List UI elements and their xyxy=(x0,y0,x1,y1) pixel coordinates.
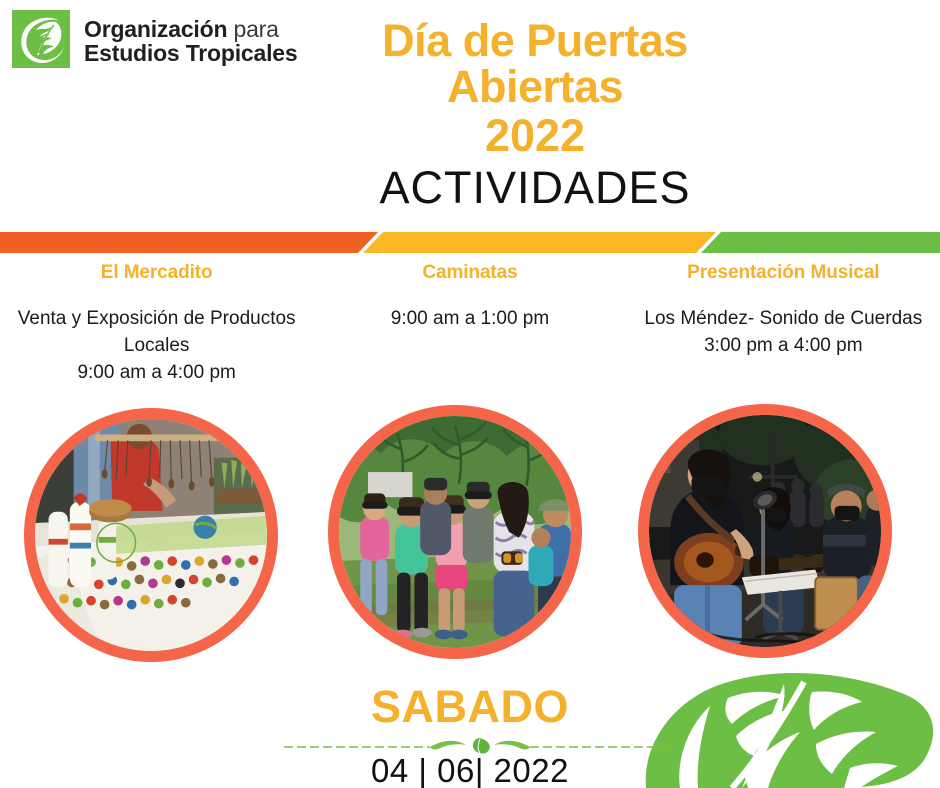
organization-name-line2: Estudios Tropicales xyxy=(84,41,298,65)
event-flyer: Organización para Estudios Tropicales Dí… xyxy=(0,0,940,788)
title-year: 2022 xyxy=(300,111,770,161)
birdwatching-group-photo xyxy=(339,416,571,648)
activity-heading: El Mercadito xyxy=(14,262,299,284)
activity-photo-musical xyxy=(638,404,892,658)
activity-description: Los Méndez- Sonido de Cuerdas xyxy=(641,306,926,333)
activity-photo-caminatas xyxy=(328,405,582,659)
event-date: 04 | 06| 2022 xyxy=(250,753,690,788)
tricolor-divider xyxy=(0,232,940,253)
activity-heading: Presentación Musical xyxy=(641,262,926,284)
title-line-1: Día de Puertas xyxy=(300,18,770,64)
activity-column-mercadito: El Mercadito Venta y Exposición de Produ… xyxy=(0,262,313,412)
title-line-2: Abiertas xyxy=(300,64,770,110)
market-stall-handicrafts-photo xyxy=(35,419,267,651)
organization-logo: Organización para Estudios Tropicales xyxy=(12,10,298,72)
activity-column-musical: Presentación Musical Los Méndez- Sonido … xyxy=(627,262,940,412)
organization-name: Organización para Estudios Tropicales xyxy=(84,17,298,66)
page-title: Día de Puertas Abiertas 2022 ACTIVIDADES xyxy=(300,18,770,214)
activity-heading: Caminatas xyxy=(327,262,612,284)
live-music-band-photo xyxy=(649,415,881,647)
activity-time: 9:00 am a 1:00 pm xyxy=(327,306,612,333)
ote-leaf-logo-icon xyxy=(12,10,74,72)
activity-time: 3:00 pm a 4:00 pm xyxy=(641,333,926,360)
activity-photo-mercadito xyxy=(24,408,278,662)
event-day: SABADO xyxy=(250,684,690,729)
activity-time: 9:00 am a 4:00 pm xyxy=(14,360,299,387)
activity-column-caminatas: Caminatas 9:00 am a 1:00 pm xyxy=(313,262,626,412)
title-subtitle: ACTIVIDADES xyxy=(300,162,770,214)
activity-description: Venta y Exposición de Productos Locales xyxy=(14,306,299,360)
activities-columns: El Mercadito Venta y Exposición de Produ… xyxy=(0,262,940,412)
organization-name-line1: Organización para xyxy=(84,17,298,41)
